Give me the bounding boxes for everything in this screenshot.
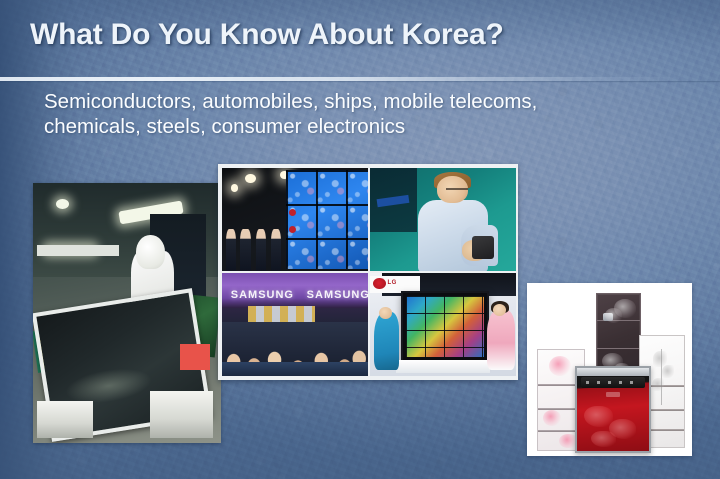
lcd-panel-factory-photo: [33, 183, 221, 443]
body-line-2: chemicals, steels, consumer electronics: [44, 114, 674, 139]
title-divider: [0, 77, 720, 81]
leaf-pattern: [662, 365, 674, 378]
slide-body-text: Semiconductors, automobiles, ships, mobi…: [44, 89, 674, 139]
collage-panel-samsung-booth: SAMSUNG SAMSUNG: [222, 273, 368, 376]
blossom-pattern: [543, 410, 561, 426]
visitor-figure: [271, 229, 281, 271]
body-line-1: Semiconductors, automobiles, ships, mobi…: [44, 89, 674, 114]
presenter-right-body: [487, 310, 515, 370]
lg-logo-text: LG: [388, 280, 397, 286]
refrigerator-lineup-photo: [527, 283, 692, 456]
factory-red-part: [180, 344, 210, 370]
spotlight-icon: [245, 174, 255, 183]
samsung-sign-left: SAMSUNG: [231, 289, 294, 301]
factory-worker-hood: [136, 235, 164, 269]
visitor-figure: [240, 229, 250, 271]
visitor-figure: [256, 229, 266, 271]
slide-title: What Do You Know About Korea?: [30, 18, 690, 52]
samsung-sign-right: SAMSUNG: [307, 289, 368, 301]
lg-television: [401, 291, 490, 363]
door-seam: [597, 348, 640, 349]
top-trim: [577, 368, 650, 376]
refrigerator-red-floral: [575, 366, 652, 453]
factory-machine-2: [150, 391, 214, 438]
consumer-electronics-collage: SAMSUNG SAMSUNG LG: [218, 164, 518, 380]
presenter-left-body: [374, 312, 399, 370]
collage-panel-ces-video-wall: [222, 168, 368, 271]
control-panel: [581, 377, 645, 388]
visitor-figure: [226, 229, 236, 271]
brand-badge: [606, 392, 621, 396]
collage-panel-keynote-speaker: [370, 168, 516, 271]
booth-visitors: [225, 224, 289, 271]
presentation-slide: What Do You Know About Korea? Semiconduc…: [0, 0, 720, 479]
glasses-icon: [446, 188, 468, 194]
tv-stand: [396, 360, 489, 373]
factory-machine-1: [37, 401, 93, 437]
handheld-device: [472, 236, 494, 259]
factory-shelf: [37, 245, 120, 255]
factory-lamp-3: [56, 199, 69, 209]
blossom-pattern: [549, 356, 571, 376]
floral-pattern: [591, 431, 616, 448]
booth-floor: [222, 362, 368, 376]
video-wall-screens: [286, 170, 368, 269]
presenter-right-head: [493, 304, 506, 316]
collage-panel-lg-tv-wall: LG: [370, 273, 516, 376]
floral-pattern: [605, 308, 622, 322]
spotlight-icon: [231, 184, 238, 191]
collage-grid: SAMSUNG SAMSUNG LG: [222, 168, 514, 376]
thumbnail-grid: [406, 296, 485, 358]
